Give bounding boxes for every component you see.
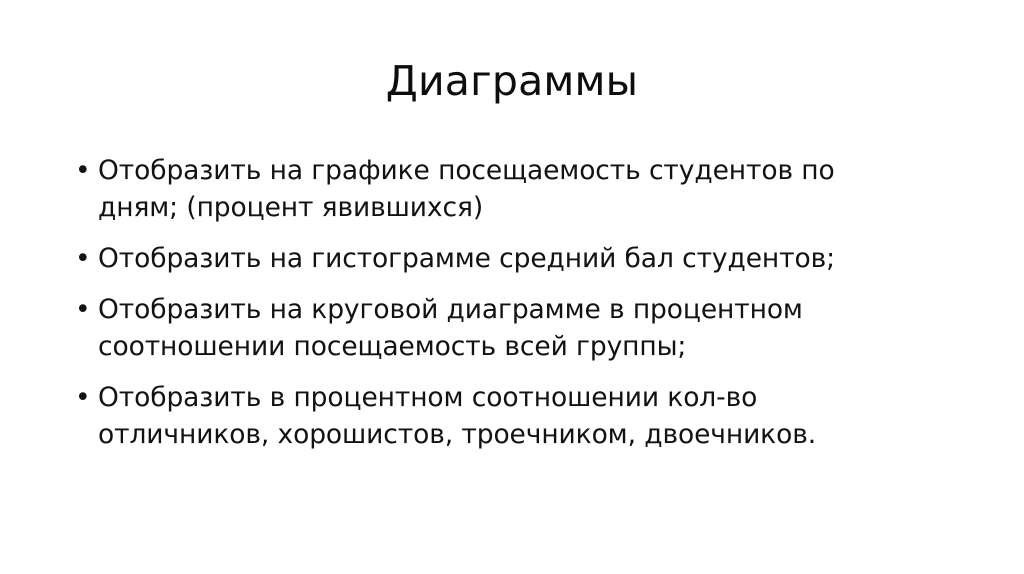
list-item-text: Отобразить на гистограмме средний бал ст…	[98, 240, 928, 277]
list-item: • Отобразить на гистограмме средний бал …	[70, 240, 928, 277]
presentation-slide: Диаграммы • Отобразить на графике посеща…	[0, 0, 1024, 574]
bullet-point-icon: •	[75, 240, 93, 277]
bullet-point-icon: •	[75, 152, 93, 189]
bullet-point-icon: •	[75, 291, 93, 328]
list-item: • Отобразить в процентном соотношении ко…	[70, 379, 928, 453]
list-item-text: Отобразить в процентном соотношении кол-…	[98, 379, 928, 453]
bullet-list: • Отобразить на графике посещаемость сту…	[70, 152, 970, 453]
page-title: Диаграммы	[0, 57, 1024, 105]
list-item-text: Отобразить на графике посещаемость студе…	[98, 152, 888, 226]
list-item: • Отобразить на графике посещаемость сту…	[70, 152, 888, 226]
list-item-text: Отобразить на круговой диаграмме в проце…	[98, 291, 978, 365]
bullet-point-icon: •	[75, 379, 93, 416]
list-item: • Отобразить на круговой диаграмме в про…	[70, 291, 978, 365]
